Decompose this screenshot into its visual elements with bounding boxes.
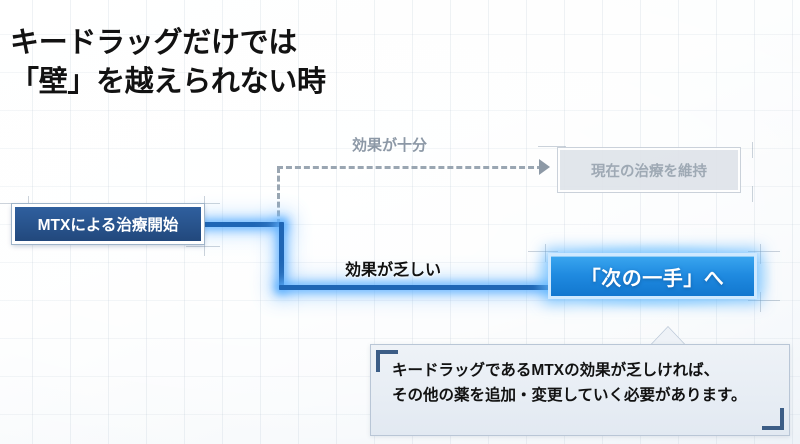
node-label: 現在の治療を維持 (591, 160, 707, 181)
registration-tick (538, 146, 566, 147)
callout-text: キードラッグであるMTXの効果が乏しければ、 その他の薬を追加・変更していく必要… (392, 358, 782, 408)
node-next-move[interactable]: 「次の一手」へ (548, 253, 757, 299)
node-label: MTXによる治療開始 (38, 213, 179, 235)
dashed-connector-vertical (277, 167, 280, 225)
node-label: 「次の一手」へ (581, 262, 725, 291)
callout-pointer (651, 327, 685, 345)
solid-connector-segment-horizontal-2 (279, 285, 557, 290)
registration-tick (752, 142, 753, 158)
registration-tick (186, 246, 220, 247)
edge-label-sufficient-effect: 効果が十分 (352, 134, 427, 155)
node-mtx-treatment-start[interactable]: MTXによる治療開始 (12, 204, 204, 244)
registration-tick (204, 238, 205, 256)
solid-connector-segment-horizontal-1 (198, 222, 284, 227)
slide-canvas: キードラッグだけでは 「壁」を越えられない時 効果が十分 現在の治療を維持 効果… (0, 0, 800, 444)
solid-connector-segment-vertical (279, 222, 284, 290)
registration-tick (752, 186, 753, 202)
registration-tick (204, 196, 205, 214)
edge-label-poor-effect: 効果が乏しい (345, 256, 441, 280)
slide-title: キードラッグだけでは 「壁」を越えられない時 (10, 24, 326, 101)
dashed-connector-horizontal (277, 166, 543, 169)
node-maintain-current-treatment[interactable]: 現在の治療を維持 (558, 148, 740, 192)
arrowhead-icon (539, 159, 550, 175)
